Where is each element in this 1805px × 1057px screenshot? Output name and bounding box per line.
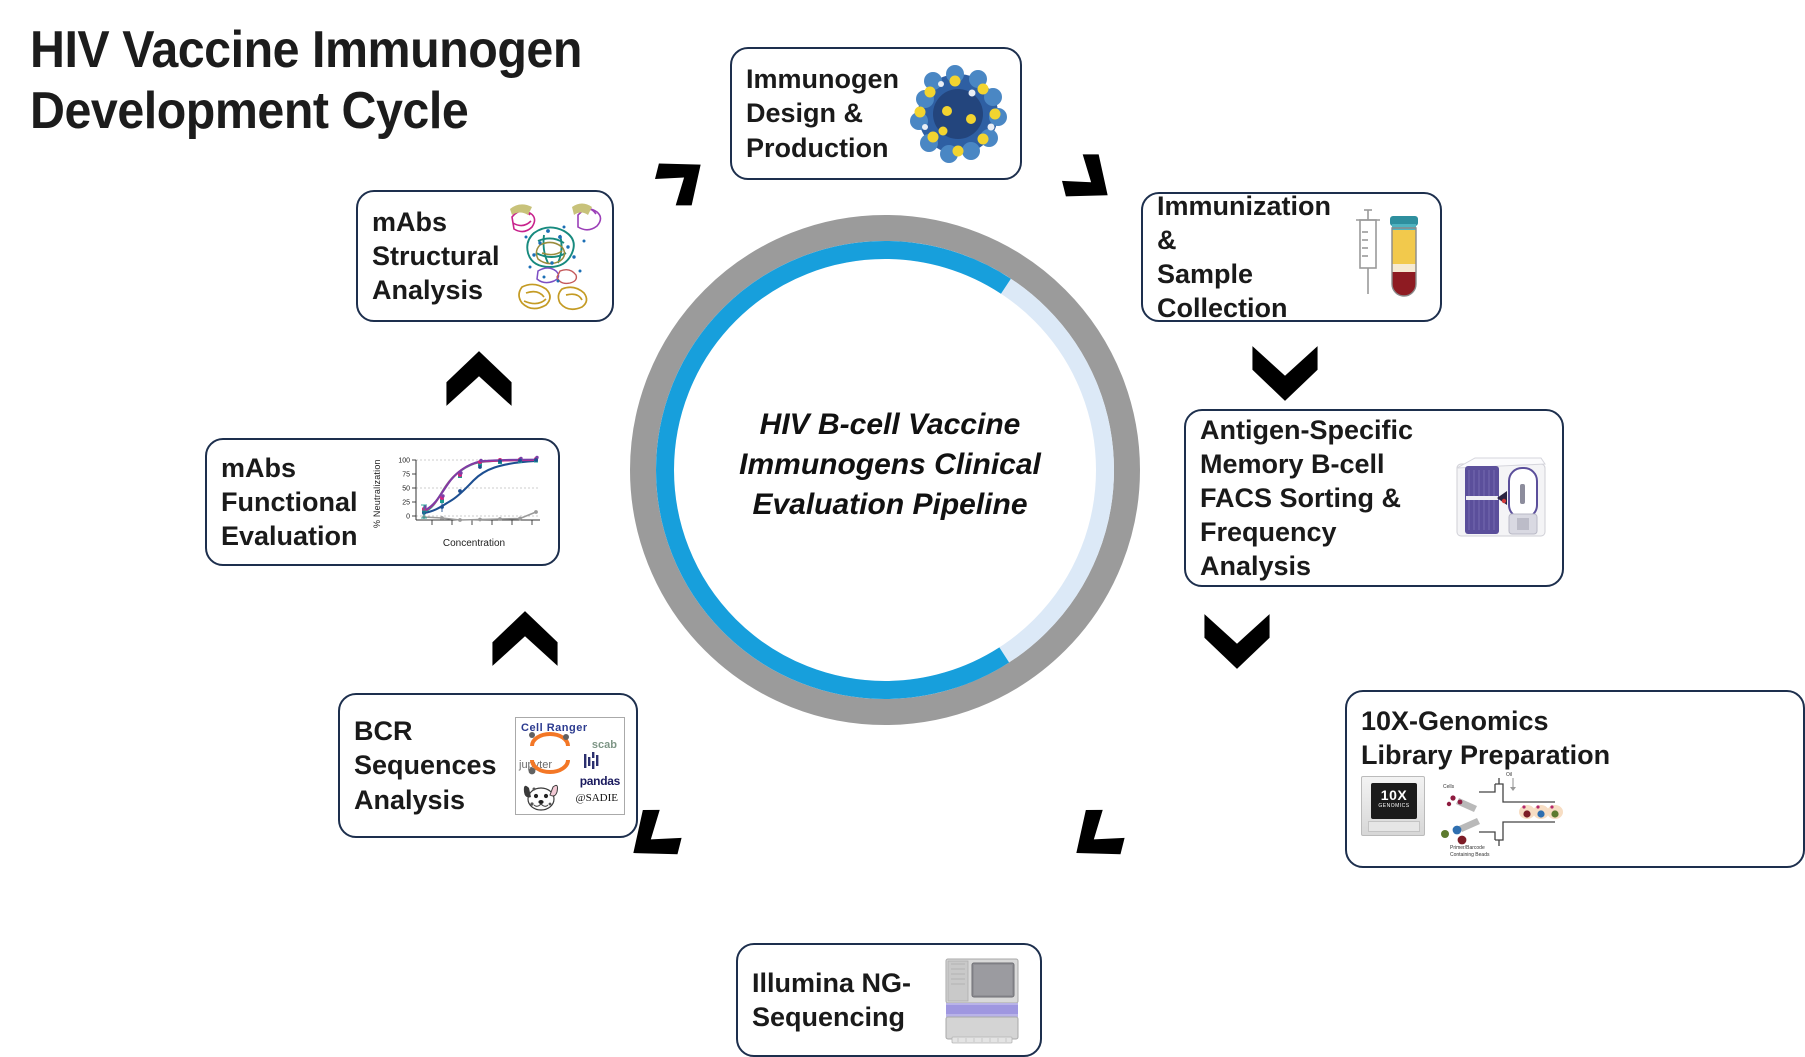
jupyter-icon (526, 730, 574, 778)
tenx-logo: 10X GENOMICS (1371, 783, 1417, 819)
svg-text:50: 50 (402, 486, 410, 493)
arrow-to-structural (442, 348, 516, 412)
sadie-logo: @SADIE (575, 792, 618, 804)
svg-text:0: 0 (406, 514, 410, 521)
arrow-to-functional (488, 608, 562, 672)
plot-canvas: 10075 5025 0 (394, 450, 544, 542)
tenx-brand-small: GENOMICS (1371, 803, 1417, 809)
hiv-virion-icon (899, 59, 1017, 169)
dalmatian-dog-icon (520, 778, 560, 812)
pandas-logo: pandas (580, 774, 620, 788)
arrow-to-immunogen-design (648, 142, 718, 212)
microfluidics-diagram-icon: Cells Oil (1435, 776, 1563, 848)
node-mabs-functional-evaluation[interactable]: mAbs Functional Evaluation % Neutralizat… (205, 438, 560, 566)
node-label: BCR Sequences Analysis (354, 714, 512, 816)
arrow-to-immunization (1055, 145, 1125, 215)
cells-label: Cells (1443, 784, 1454, 790)
node-label: Antigen-Specific Memory B-cell FACS Sort… (1200, 413, 1446, 583)
tenx-brand-big: 10X (1371, 787, 1417, 803)
protein-structure-icon (502, 197, 606, 315)
node-label: Illumina NG- Sequencing (752, 966, 932, 1034)
node-label: Immunization & Sample Collection (1157, 189, 1344, 325)
neutralization-plot: % Neutralization (372, 448, 548, 556)
software-stack-icon: Cell Ranger scab jupyter pandas @SADIE (512, 717, 628, 815)
svg-text:100: 100 (398, 458, 410, 465)
node-label: 10X-Genomics Library Preparation (1361, 704, 1610, 772)
scab-icon (582, 751, 602, 771)
page-title: HIV Vaccine Immunogen Development Cycle (30, 20, 681, 143)
node-facs-sorting[interactable]: Antigen-Specific Memory B-cell FACS Sort… (1184, 409, 1564, 587)
tenx-chromium-icon: 10X GENOMICS (1361, 776, 1563, 848)
scab-logo: scab (592, 739, 617, 751)
donut-center-label: HIV B-cell Vaccine Immunogens Clinical E… (700, 405, 1080, 525)
beads-label: Primer/Barcode Containing Beads (1450, 845, 1489, 858)
arrow-to-illumina (1058, 800, 1132, 874)
svg-text:75: 75 (402, 472, 410, 479)
arrow-to-facs (1248, 340, 1322, 404)
plot-xlabel: Concentration (386, 538, 562, 549)
facs-instrument-icon (1446, 446, 1556, 550)
node-mabs-structural-analysis[interactable]: mAbs Structural Analysis (356, 190, 614, 322)
tenx-instrument-icon: 10X GENOMICS (1361, 776, 1425, 836)
syringe-blood-tube-icon (1344, 202, 1436, 312)
oil-label: Oil (1506, 772, 1512, 778)
svg-text:25: 25 (402, 500, 410, 507)
node-bcr-sequences-analysis[interactable]: BCR Sequences Analysis Cell Ranger scab … (338, 693, 638, 838)
node-label: mAbs Structural Analysis (372, 205, 502, 307)
illumina-sequencer-icon (932, 951, 1034, 1049)
software-logo-panel: Cell Ranger scab jupyter pandas @SADIE (515, 717, 625, 815)
node-immunization-sample-collection[interactable]: Immunization & Sample Collection (1141, 192, 1442, 322)
node-immunogen-design-production[interactable]: Immunogen Design & Production (730, 47, 1022, 180)
node-illumina-ng-sequencing[interactable]: Illumina NG- Sequencing (736, 943, 1042, 1057)
node-label: mAbs Functional Evaluation (221, 451, 370, 553)
arrow-to-tenx (1200, 608, 1274, 672)
node-label: Immunogen Design & Production (746, 62, 899, 164)
plot-ylabel: % Neutralization (372, 456, 382, 528)
neutralization-curve-icon: % Neutralization (370, 448, 550, 556)
node-tenx-library-preparation[interactable]: 10X-Genomics Library Preparation 10X GEN… (1345, 690, 1805, 868)
